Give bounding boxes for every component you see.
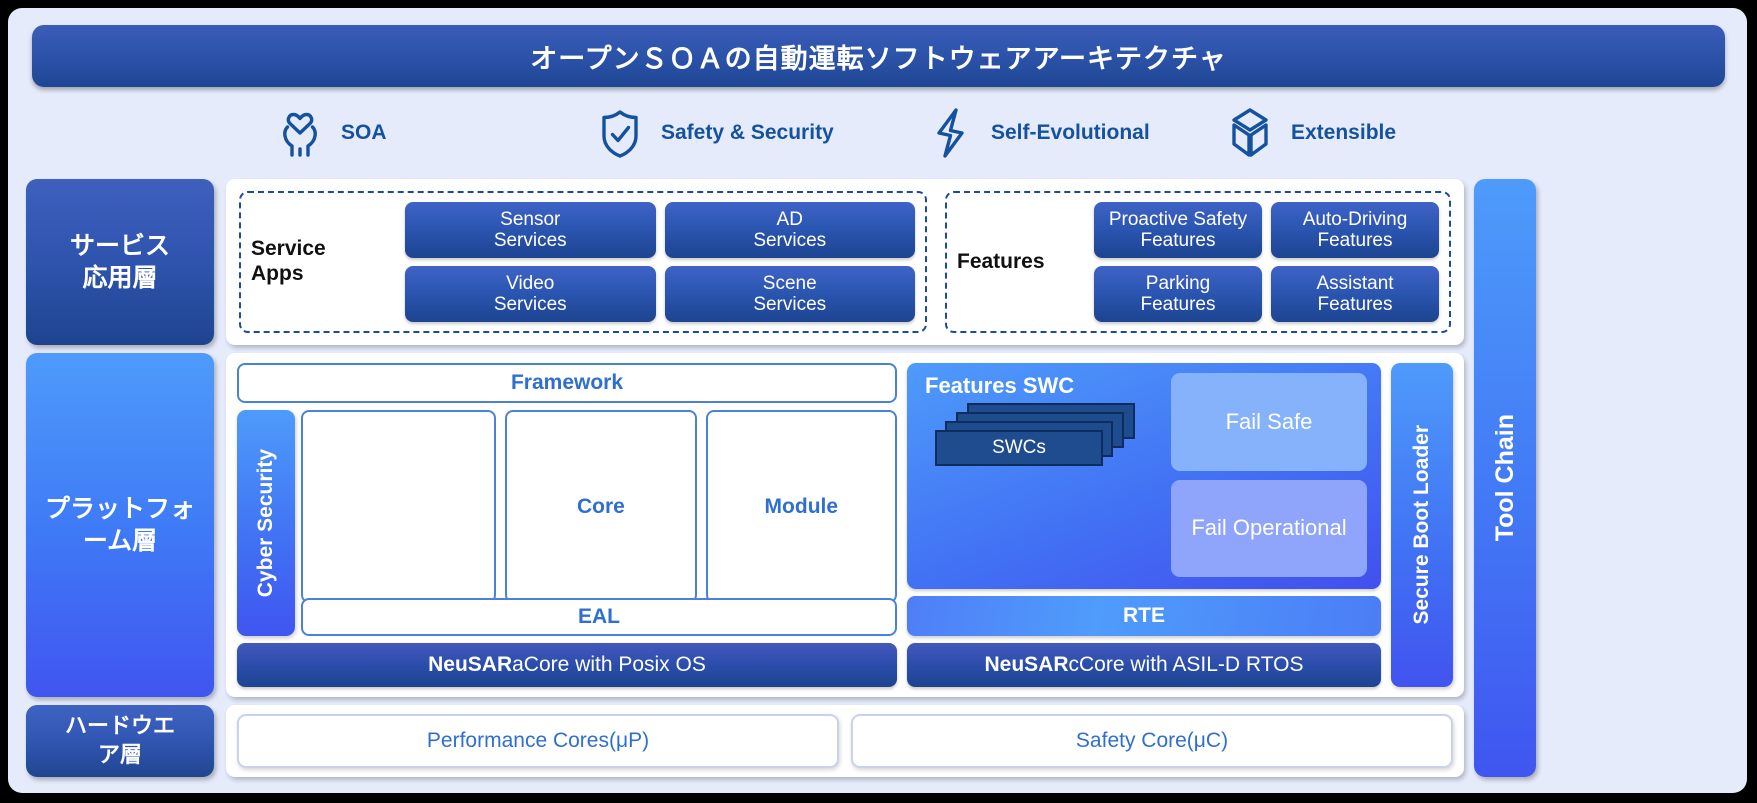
shield-check-icon — [592, 105, 648, 161]
tile-line2: Services — [753, 230, 826, 251]
pillar-self-evolutional: Self-Evolutional — [922, 105, 1222, 161]
architecture-body: サービス 応用層 Service Apps — [26, 179, 1731, 777]
layer-label-line2: ーム層 — [45, 525, 195, 558]
neusar-acore-rest: aCore with Posix OS — [512, 653, 706, 677]
service-apps-tiles: Sensor Services AD Services — [405, 202, 915, 322]
module-box[interactable]: Module — [706, 410, 897, 603]
tile-line2: Features — [1109, 230, 1247, 251]
performance-cores-box[interactable]: Performance Cores(μP) — [237, 714, 839, 768]
tile-line1: Proactive Safety — [1109, 209, 1247, 230]
pillar-label: Safety & Security — [661, 121, 834, 145]
core-box[interactable]: Core — [505, 410, 696, 603]
secure-boot-loader-strip[interactable]: Secure Boot Loader — [1391, 363, 1453, 687]
platform-acore-column: Framework Cyber Security Core Modul — [237, 363, 897, 687]
pillar-extensible: Extensible — [1222, 105, 1472, 161]
platform-layer-row: プラットフォ ーム層 Framework Cyber Security — [26, 353, 1464, 697]
diagram-frame: オープンＳＯＡの自動運転ソフトウェアアーキテクチャ SOA — [8, 8, 1747, 793]
hardware-layer-row: ハードウエ ア層 Performance Cores(μP) Safety Co… — [26, 705, 1464, 777]
tile-line1: Parking — [1141, 273, 1216, 294]
layer-label-line1: サービス — [70, 230, 170, 263]
fail-operational-box[interactable]: Fail Operational — [1171, 480, 1367, 578]
tile-line1: Sensor — [494, 209, 567, 230]
feature-tile-parking[interactable]: Parking Features — [1094, 266, 1262, 322]
layer-label-line1: ハードウエ — [65, 712, 175, 741]
eal-box[interactable]: EAL — [301, 598, 897, 636]
service-tile-scene[interactable]: Scene Services — [665, 266, 916, 322]
pillar-label: SOA — [341, 121, 387, 145]
neusar-ccore-bar[interactable]: NeuSAR cCore with ASIL-D RTOS — [907, 643, 1381, 687]
cyber-security-strip[interactable]: Cyber Security — [237, 410, 295, 636]
platform-ccore-column: Features SWC SWCs SWCs SWCs SWCs — [907, 363, 1381, 687]
tile-line1: Auto-Driving — [1303, 209, 1408, 230]
features-group: Features Proactive Safety Features — [945, 191, 1451, 333]
tool-chain-label: Tool Chain — [1491, 414, 1520, 541]
lightning-bolt-icon — [922, 105, 978, 161]
features-swc-left: Features SWC SWCs SWCs SWCs SWCs — [925, 373, 1157, 577]
features-swc-block: Features SWC SWCs SWCs SWCs SWCs — [907, 363, 1381, 589]
feature-tile-proactive-safety[interactable]: Proactive Safety Features — [1094, 202, 1262, 258]
layer-label-line2: ア層 — [65, 741, 175, 770]
heart-hands-icon — [272, 105, 328, 161]
service-tile-ad[interactable]: AD Services — [665, 202, 916, 258]
fail-safe-box[interactable]: Fail Safe — [1171, 373, 1367, 471]
swc-card-stack: SWCs SWCs SWCs SWCs — [935, 403, 1135, 465]
pillar-safety-security: Safety & Security — [592, 105, 922, 161]
features-swc-title: Features SWC — [925, 373, 1157, 399]
neusar-ccore-rest: cCore with ASIL-D RTOS — [1069, 653, 1304, 677]
hardware-layer-panel: Performance Cores(μP) Safety Core(μC) — [226, 705, 1464, 777]
features-label: Features — [957, 250, 1082, 275]
safety-core-box[interactable]: Safety Core(μC) — [851, 714, 1453, 768]
feature-tile-assistant[interactable]: Assistant Features — [1271, 266, 1439, 322]
secure-boot-loader-label: Secure Boot Loader — [1410, 425, 1434, 625]
service-tile-sensor[interactable]: Sensor Services — [405, 202, 656, 258]
secure-boot-loader-column: Secure Boot Loader — [1391, 363, 1453, 687]
platform-layer-panel: Framework Cyber Security Core Modul — [226, 353, 1464, 697]
tile-line1: Scene — [753, 273, 826, 294]
neusar-acore-brand: NeuSAR — [428, 653, 512, 677]
pillar-soa: SOA — [272, 105, 592, 161]
platform-core-row: Core Module — [301, 410, 897, 603]
service-apps-group: Service Apps Sensor Services — [239, 191, 927, 333]
service-layer-row: サービス 応用層 Service Apps — [26, 179, 1464, 345]
tile-line1: Assistant — [1316, 273, 1393, 294]
tile-line2: Features — [1303, 230, 1408, 251]
fail-column: Fail Safe Fail Operational — [1171, 373, 1367, 577]
swc-card[interactable]: SWCs — [935, 430, 1103, 466]
blank-box[interactable] — [301, 410, 496, 603]
layer-label-line2: 応用層 — [70, 262, 170, 295]
layers-column: サービス 応用層 Service Apps — [26, 179, 1464, 777]
neusar-acore-bar[interactable]: NeuSAR aCore with Posix OS — [237, 643, 897, 687]
platform-mid-row: Cyber Security Core Module EAL — [237, 410, 897, 636]
cube-box-icon — [1222, 105, 1278, 161]
tile-line2: Features — [1141, 294, 1216, 315]
service-tile-video[interactable]: Video Services — [405, 266, 656, 322]
layer-label-service: サービス 応用層 — [26, 179, 214, 345]
pillar-label: Self-Evolutional — [991, 121, 1150, 145]
layer-label-hardware: ハードウエ ア層 — [26, 705, 214, 777]
tile-line2: Services — [494, 230, 567, 251]
service-apps-label-line1: Service — [251, 237, 393, 262]
tile-line2: Services — [494, 294, 567, 315]
service-layer-panel: Service Apps Sensor Services — [226, 179, 1464, 345]
service-apps-label: Service Apps — [251, 237, 393, 287]
pillar-label: Extensible — [1291, 121, 1396, 145]
tool-chain-strip[interactable]: Tool Chain — [1474, 179, 1536, 777]
layer-label-line1: プラットフォ — [45, 493, 195, 526]
tile-line2: Features — [1316, 294, 1393, 315]
diagram-root: オープンＳＯＡの自動運転ソフトウェアアーキテクチャ SOA — [0, 0, 1757, 803]
page-title: オープンＳＯＡの自動運転ソフトウェアアーキテクチャ — [32, 25, 1725, 87]
feature-tile-auto-driving[interactable]: Auto-Driving Features — [1271, 202, 1439, 258]
tile-line1: AD — [753, 209, 826, 230]
features-tiles: Proactive Safety Features Auto-Driving F… — [1094, 202, 1439, 322]
neusar-ccore-brand: NeuSAR — [985, 653, 1069, 677]
platform-mid-stack: Core Module EAL — [301, 410, 897, 636]
framework-box[interactable]: Framework — [237, 363, 897, 403]
pillar-row: SOA Safety & Security Self-Evolutio — [26, 87, 1731, 179]
tile-line2: Services — [753, 294, 826, 315]
service-apps-label-line2: Apps — [251, 262, 393, 287]
layer-label-platform: プラットフォ ーム層 — [26, 353, 214, 697]
tile-line1: Video — [494, 273, 567, 294]
cyber-security-label: Cyber Security — [254, 449, 278, 597]
rte-bar[interactable]: RTE — [907, 596, 1381, 636]
